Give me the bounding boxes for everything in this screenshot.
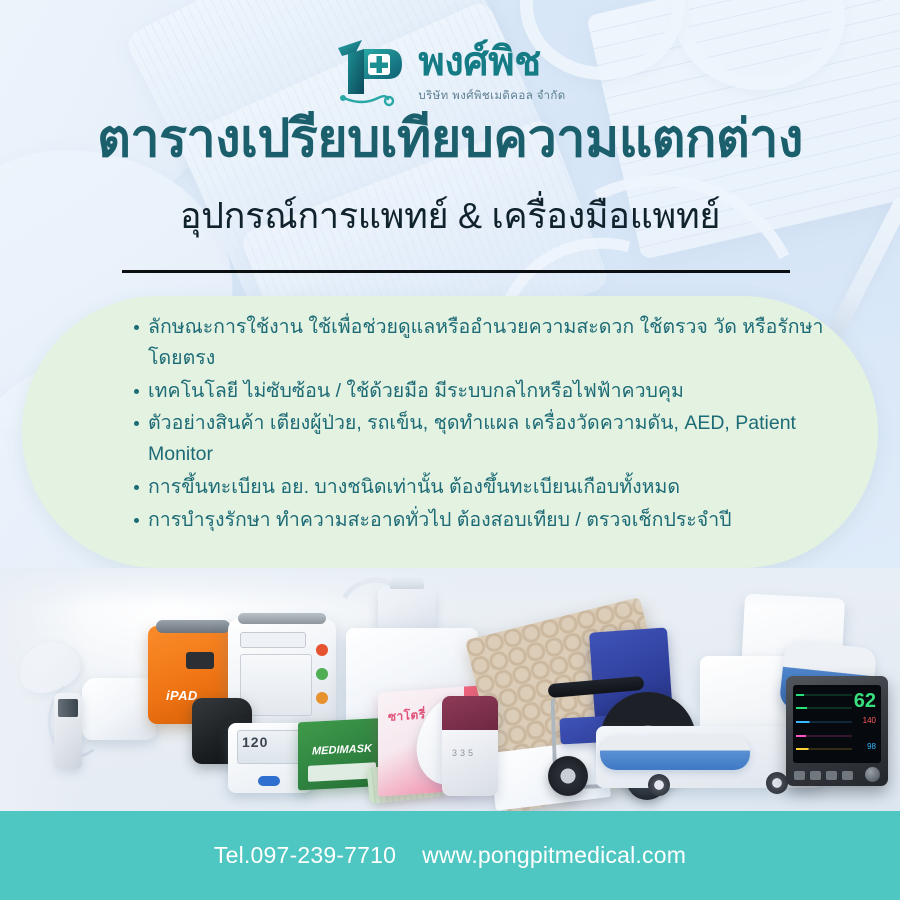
resp-waveform [796, 735, 852, 737]
hospital-bed-caster-image [766, 772, 788, 794]
list-item: การขึ้นทะเบียน อย. บางชนิดเท่านั้น ต้องข… [134, 472, 834, 503]
bullet-dot-icon [134, 518, 139, 523]
infographic-poster: พงศ์พิช บริษัท พงศ์พิชเมดิคอล จำกัด ตารา… [0, 0, 900, 900]
spo2-waveform [796, 721, 852, 723]
aed-brand-label: iPAD [166, 688, 198, 703]
bp-reading: 120 [242, 734, 268, 750]
heart-rate-value: 62 [854, 691, 876, 711]
strip-top-fade [0, 568, 900, 608]
monitor-tertiary-value: 98 [867, 741, 876, 753]
list-item: การบำรุงรักษา ทำความสะอาดทั่วไป ต้องสอบเ… [134, 505, 834, 536]
wheelchair-front-caster-image [548, 756, 588, 796]
list-item-label: ลักษณะการใช้งาน ใช้เพื่อช่วยดูแลหรืออำนว… [148, 312, 834, 374]
bullet-dot-icon [134, 421, 139, 426]
brand-logo: พงศ์พิช บริษัท พงศ์พิชเมดิคอล จำกัด [0, 36, 900, 110]
list-item-label: ตัวอย่างสินค้า เตียงผู้ป่วย, รถเข็น, ชุด… [148, 408, 834, 470]
title-divider [122, 270, 790, 273]
list-item: ตัวอย่างสินค้า เตียงผู้ป่วย, รถเข็น, ชุด… [134, 408, 834, 470]
oxygen-concentrator-readout: 335 [452, 748, 476, 758]
comparison-card: ลักษณะการใช้งาน ใช้เพื่อช่วยดูแลหรืออำนว… [22, 296, 878, 568]
bullet-dot-icon [134, 389, 139, 394]
ecg-waveform [796, 707, 852, 709]
brand-company-line: บริษัท พงศ์พิชเมดิคอล จำกัด [418, 87, 565, 105]
comparison-bullet-list: ลักษณะการใช้งาน ใช้เพื่อช่วยดูแลหรืออำนว… [134, 312, 834, 556]
list-item-label: การบำรุงรักษา ทำความสะอาดทั่วไป ต้องสอบเ… [148, 505, 834, 536]
aed-button-orange [316, 692, 328, 704]
brand-name: พงศ์พิช [418, 42, 540, 82]
patient-monitor-keys [794, 771, 853, 780]
patient-monitor-knob [865, 767, 880, 782]
product-photo-strip: iPAD AED 120 MEDIMASK ซา [0, 568, 900, 811]
oxygen-concentrator-image: 335 [442, 696, 498, 796]
hospital-bed-caster-image [648, 774, 670, 796]
list-item-label: การขึ้นทะเบียน อย. บางชนิดเท่านั้น ต้องข… [148, 472, 834, 503]
aed-button-red [316, 644, 328, 656]
page-subtitle: อุปกรณ์การแพทย์ & เครื่องมือแพทย์ [0, 196, 900, 236]
aed-screen [186, 652, 214, 669]
page-title: ตารางเปรียบเทียบความแตกต่าง [0, 112, 900, 167]
aed-handle [156, 620, 230, 633]
ecg-waveform [796, 694, 852, 696]
nibp-waveform [796, 748, 852, 750]
patient-monitor-image: 62 140 98 [786, 676, 888, 786]
monitor-secondary-value: 140 [863, 715, 876, 727]
list-item: เทคโนโลยี ไม่ซับซ้อน / ใช้ด้วยมือ มีระบบ… [134, 376, 834, 407]
aed-panel [240, 632, 306, 648]
hospital-bed-side-rail-image [600, 736, 750, 770]
p-medical-cross-stethoscope-logo-icon [334, 36, 410, 110]
mask-box-brand-label: MEDIMASK [312, 743, 372, 758]
mask-box-strip [308, 762, 376, 782]
footer-contact-bar: Tel.097-239-7710 www.pongpitmedical.com [0, 811, 900, 900]
nebulizer-compressor-image [82, 678, 156, 740]
contact-phone[interactable]: Tel.097-239-7710 [214, 842, 396, 869]
aed-button-green [316, 668, 328, 680]
contact-website[interactable]: www.pongpitmedical.com [422, 842, 686, 869]
bullet-dot-icon [134, 325, 139, 330]
list-item-label: เทคโนโลยี ไม่ซับซ้อน / ใช้ด้วยมือ มีระบบ… [148, 376, 834, 407]
oxygen-concentrator-top [442, 696, 498, 730]
patient-monitor-screen: 62 140 98 [793, 685, 881, 763]
aed-top-bar [238, 613, 326, 624]
bp-start-button [258, 776, 280, 786]
bullet-dot-icon [134, 485, 139, 490]
list-item: ลักษณะการใช้งาน ใช้เพื่อช่วยดูแลหรืออำนว… [134, 312, 834, 374]
brand-logo-text: พงศ์พิช บริษัท พงศ์พิชเมดิคอล จำกัด [418, 42, 565, 105]
glove-box-brand-label: ซาโตรี่ [388, 705, 426, 727]
